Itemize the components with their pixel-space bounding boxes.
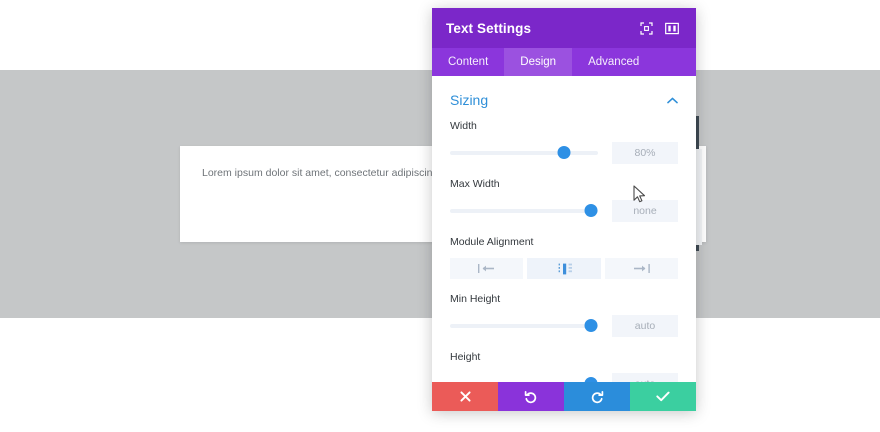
redo-icon [590,390,604,404]
align-center-button[interactable] [527,258,600,279]
field-module-alignment: Module Alignment [450,236,678,293]
align-right-button[interactable] [605,258,678,279]
chevron-up-icon[interactable] [667,97,678,104]
slider-min-height[interactable] [450,319,598,333]
section-title: Sizing [450,92,488,108]
field-label-max-width: Max Width [450,178,678,190]
check-icon [656,391,670,402]
screen: Lorem ipsum dolor sit amet, consectetur … [0,0,880,432]
cancel-button[interactable] [432,382,498,411]
align-left-button[interactable] [450,258,523,279]
slider-width[interactable] [450,146,598,160]
slider-track [450,151,598,155]
tab-content[interactable]: Content [432,48,504,76]
slider-handle[interactable] [584,377,597,382]
slider-handle[interactable] [584,319,597,332]
field-max-width: Max Width none [450,178,678,236]
undo-icon [524,390,538,404]
text-settings-modal: Text Settings Content Design Advanced [432,8,696,411]
slider-handle[interactable] [557,146,570,159]
field-height: Height auto [450,351,678,382]
field-label-module-alignment: Module Alignment [450,236,678,248]
field-min-height: Min Height auto [450,293,678,351]
slider-track [450,209,598,213]
field-label-min-height: Min Height [450,293,678,305]
slider-max-width[interactable] [450,204,598,218]
undo-button[interactable] [498,382,564,411]
field-width: Width 80% [450,120,678,178]
field-label-height: Height [450,351,678,363]
redo-button[interactable] [564,382,630,411]
value-input-width[interactable]: 80% [612,142,678,164]
fullscreen-icon[interactable] [636,18,656,38]
close-icon [460,391,471,402]
slider-handle[interactable] [584,204,597,217]
slider-height[interactable] [450,377,598,382]
modal-header: Text Settings [432,8,696,48]
value-input-height[interactable]: auto [612,373,678,382]
layout-columns-icon[interactable] [662,18,682,38]
save-button[interactable] [630,382,696,411]
value-input-max-width[interactable]: none [612,200,678,222]
sizing-section-header[interactable]: Sizing [450,76,678,120]
field-label-width: Width [450,120,678,132]
page-title: Text Settings [446,21,630,36]
slider-track [450,324,598,328]
tab-design[interactable]: Design [504,48,572,76]
modal-action-bar [432,382,696,411]
tab-advanced[interactable]: Advanced [572,48,655,76]
modal-body: Sizing Width 80% [432,76,696,382]
value-input-min-height[interactable]: auto [612,315,678,337]
modal-tabs: Content Design Advanced [432,48,696,76]
